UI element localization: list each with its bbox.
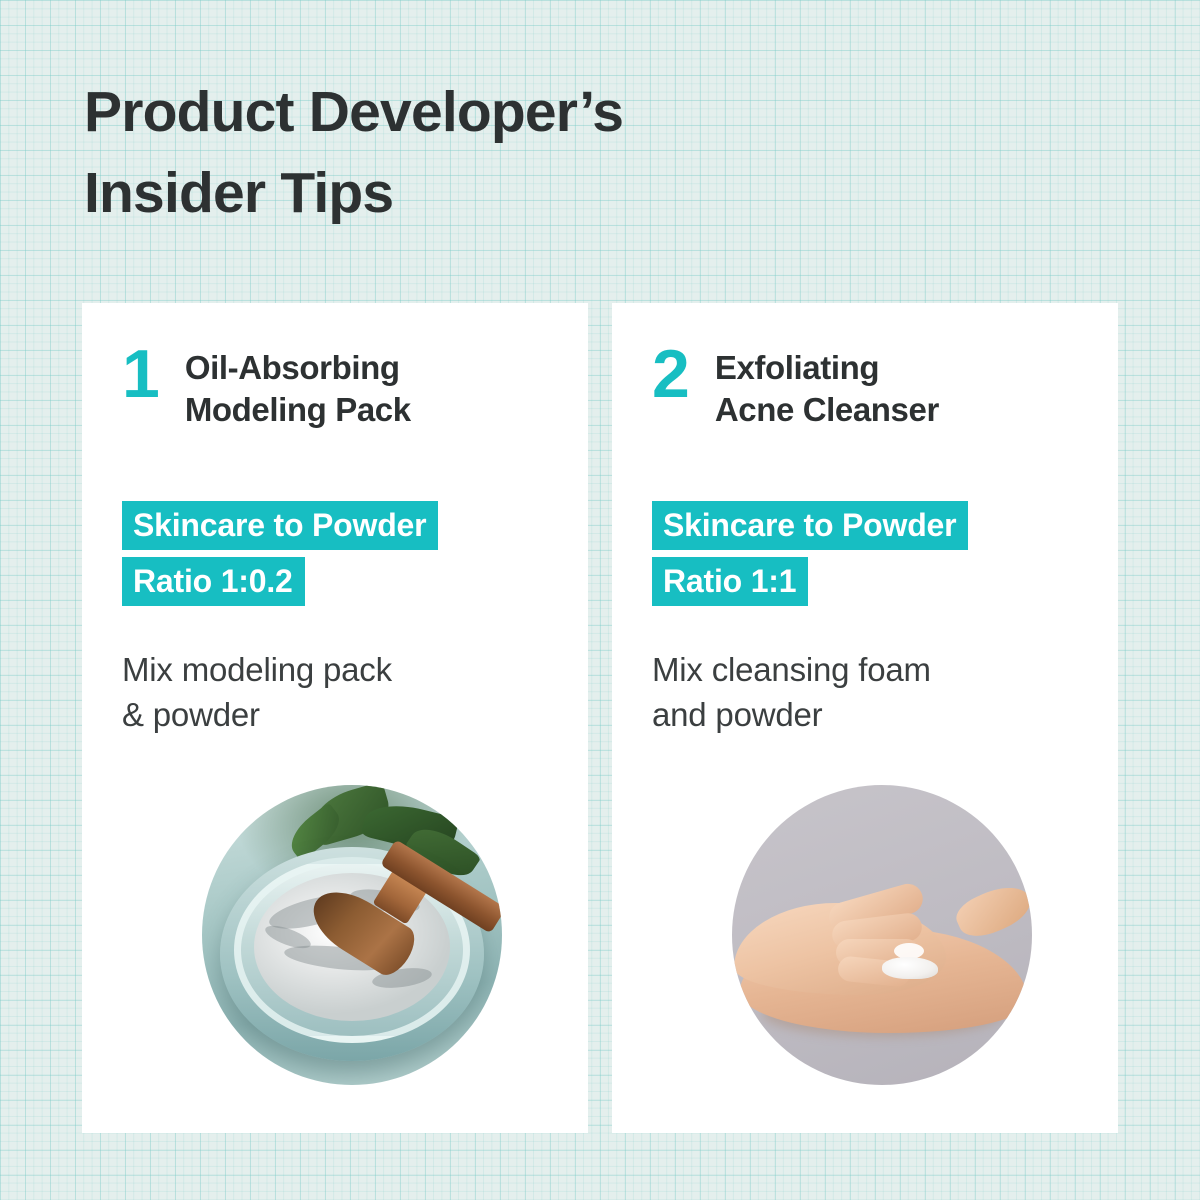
bowl-photo-backdrop [202,785,502,1085]
card-2-instruction-text: Mix cleansing foam and powder [652,648,1072,738]
card-1-ratio-label-badge: Skincare to Powder [122,501,438,550]
card-2-ratio-label-badge: Skincare to Powder [652,501,968,550]
card-2-ratio-badges: Skincare to Powder Ratio 1:1 [652,501,968,606]
card-1-ratio-value-badge: Ratio 1:0.2 [122,557,305,606]
hands-with-cleansing-foam-photo [732,785,1032,1085]
card-2-step-number: 2 [652,343,689,406]
thumb-shape [951,877,1032,944]
card-2-header: 2 Exfoliating Acne Cleanser [652,341,1100,431]
card-2-ratio-value-badge: Ratio 1:1 [652,557,808,606]
card-2-title: Exfoliating Acne Cleanser [715,341,939,431]
card-1-instruction-text: Mix modeling pack & powder [122,648,542,738]
card-1-ratio-badges: Skincare to Powder Ratio 1:0.2 [122,501,438,606]
tip-card-1[interactable]: 1 Oil-Absorbing Modeling Pack Skincare t… [82,303,588,1133]
cleansing-foam-blob [882,957,938,979]
hands-photo-backdrop [732,785,1032,1085]
page-title: Product Developer’s Insider Tips [84,72,884,234]
card-1-step-number: 1 [122,343,159,406]
card-1-header: 1 Oil-Absorbing Modeling Pack [122,341,570,431]
tip-card-2[interactable]: 2 Exfoliating Acne Cleanser Skincare to … [612,303,1118,1133]
card-1-title: Oil-Absorbing Modeling Pack [185,341,411,431]
modeling-pack-bowl-with-brush-photo [202,785,502,1085]
infographic-page: Product Developer’s Insider Tips 1 Oil-A… [0,0,1200,1200]
